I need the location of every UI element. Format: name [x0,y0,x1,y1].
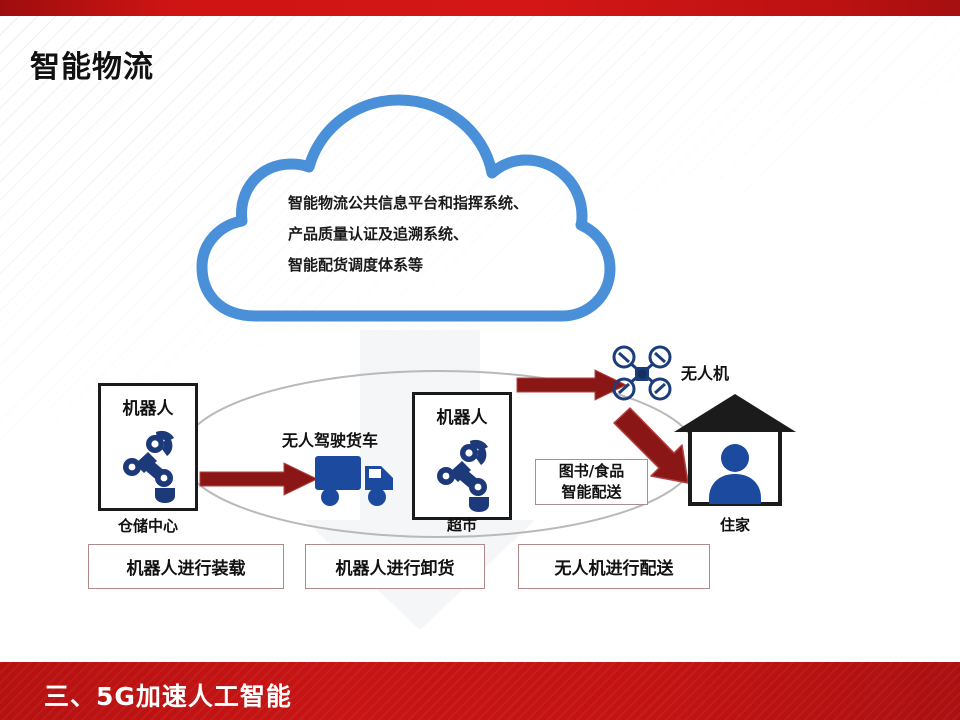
cloud-line-3: 智能配货调度体系等 [288,250,618,281]
page-title: 智能物流 [30,42,154,86]
house-with-person-icon [672,392,798,512]
cloud-line-1: 智能物流公共信息平台和指挥系统、 [288,188,618,219]
footer-section-bar: 三、5G加速人工智能 [0,662,960,720]
supermarket-caption: 超市 [412,514,512,535]
warehouse-robot-box: 机器人 [98,383,198,511]
cloud-description-text: 智能物流公共信息平台和指挥系统、 产品质量认证及追溯系统、 智能配货调度体系等 [288,188,618,281]
warehouse-to-truck-arrow [200,463,318,495]
step-box-drone-delivery: 无人机进行配送 [518,544,710,589]
supermarket-box-title: 机器人 [415,403,509,428]
delivery-type-tag: 图书/食品 智能配送 [535,459,648,505]
step-box-unloading: 机器人进行卸货 [305,544,485,589]
cloud-line-2: 产品质量认证及追溯系统、 [288,219,618,250]
step-label-2: 机器人进行卸货 [336,554,455,579]
drone-label: 无人机 [681,360,729,384]
warehouse-box-title: 机器人 [101,394,195,419]
slide-canvas: 智能物流 智能物流公共信息平台和指挥系统、 产品质量认证及追溯系统、 智能配货调… [0,0,960,720]
supermarket-robot-box: 机器人 [412,392,512,520]
robot-arm-icon [115,424,187,504]
delivery-truck-icon [313,452,399,508]
tag-line-1: 图书/食品 [559,461,624,482]
step-label-1: 机器人进行装载 [127,554,246,579]
footer-section-title: 三、5G加速人工智能 [44,677,292,713]
home-caption: 住家 [672,514,798,535]
robot-arm-icon [429,433,501,513]
step-box-loading: 机器人进行装载 [88,544,284,589]
cloud-platform-shape: 智能物流公共信息平台和指挥系统、 产品质量认证及追溯系统、 智能配货调度体系等 [196,78,616,328]
tag-line-2: 智能配送 [561,482,621,503]
warehouse-caption: 仓储中心 [98,515,198,536]
quadcopter-drone-icon [611,345,673,401]
step-label-3: 无人机进行配送 [555,554,674,579]
truck-label: 无人驾驶货车 [282,427,378,451]
top-accent-bar [0,0,960,16]
